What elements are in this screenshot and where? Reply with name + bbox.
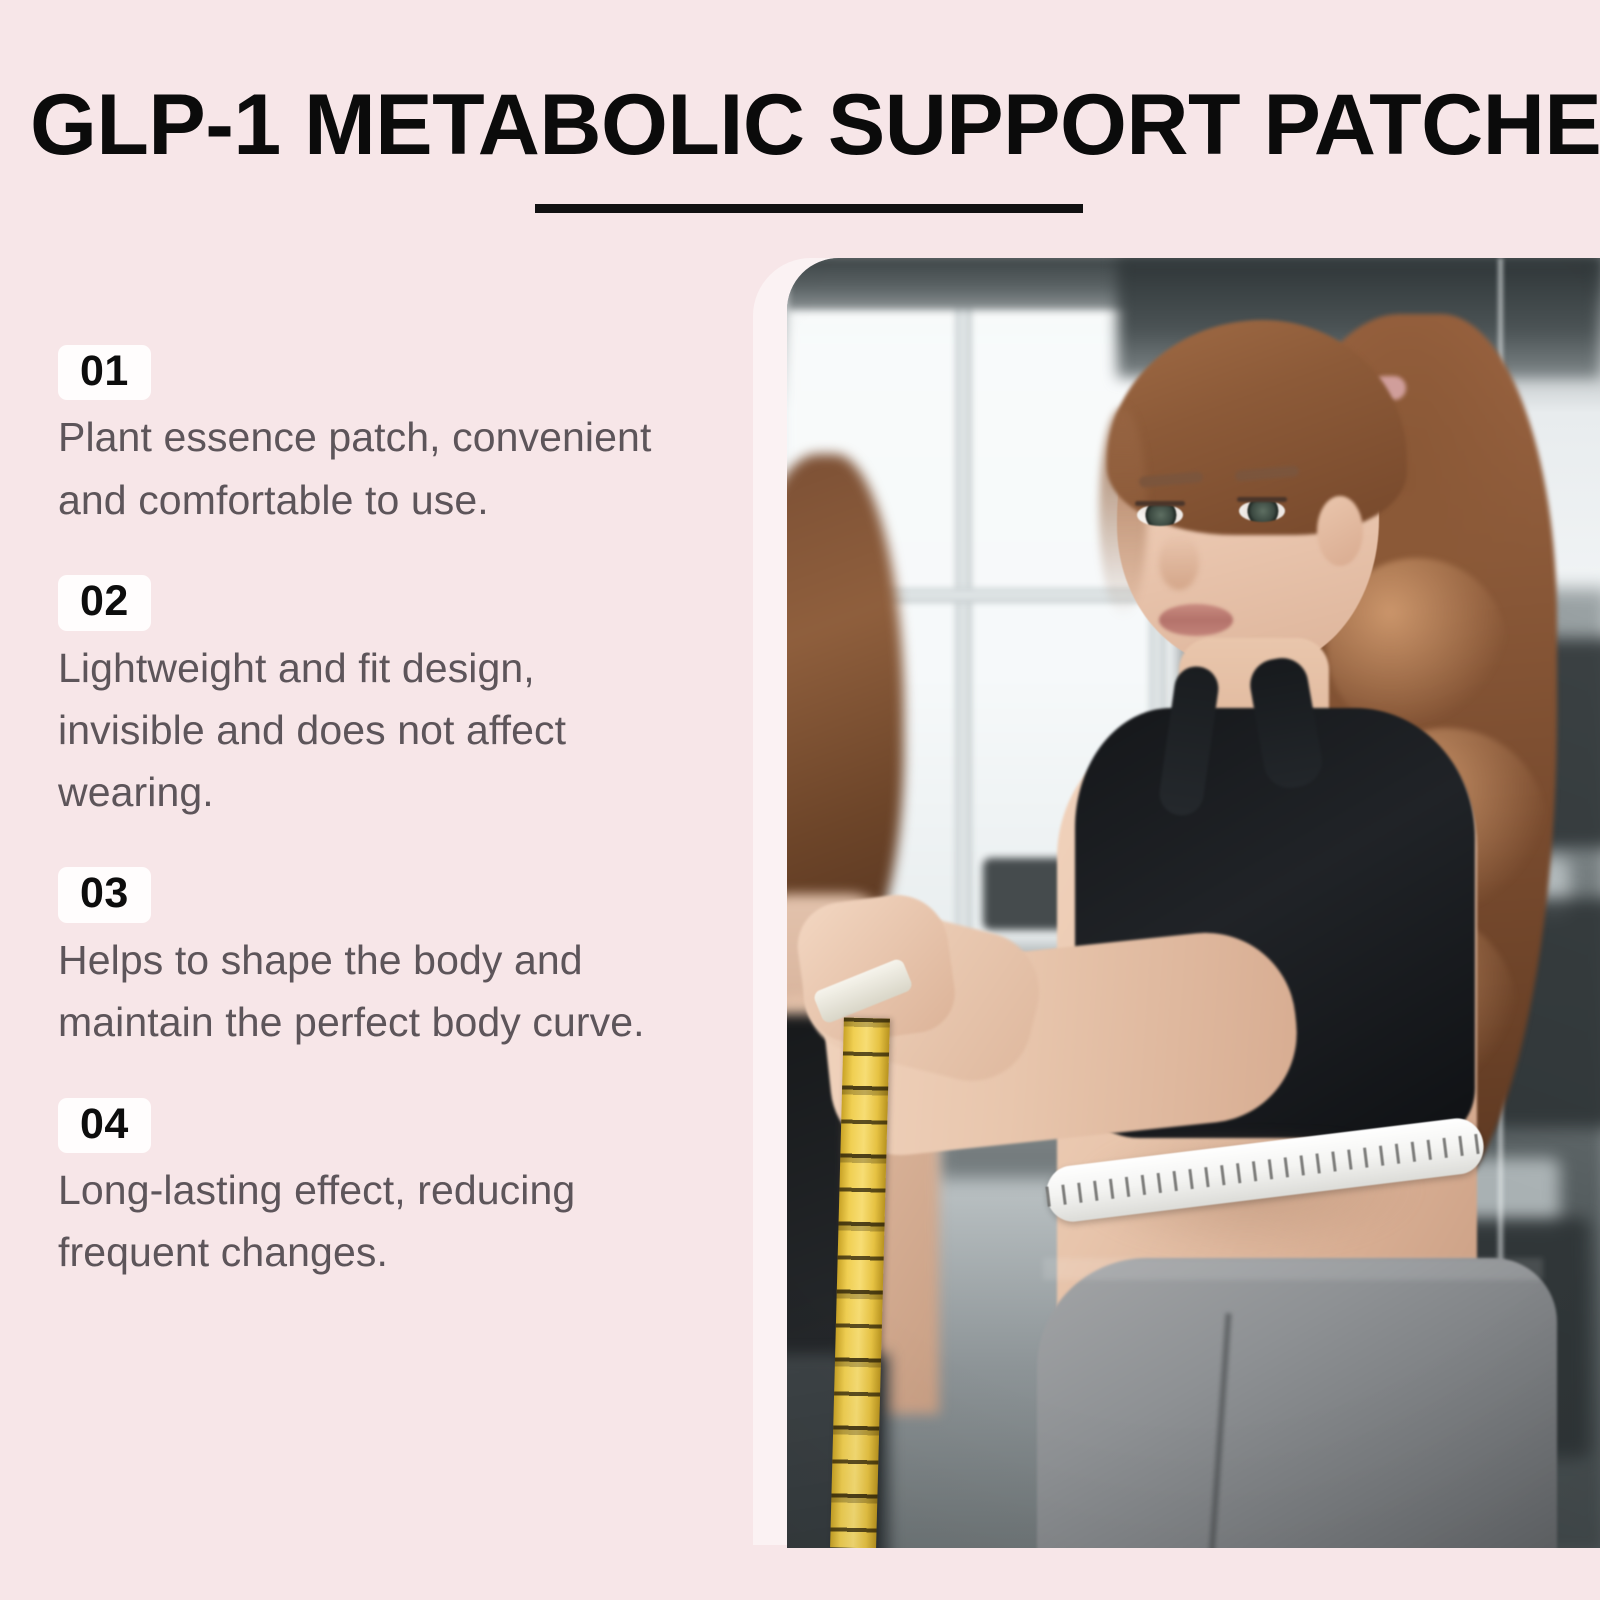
- feature-item-02: 02 Lightweight and fit design, invisible…: [58, 575, 698, 823]
- page-title: GLP-1 METABOLIC SUPPORT PATCHES: [30, 82, 1575, 168]
- feature-number-badge-04: 04: [58, 1098, 151, 1153]
- title-underline-rule: [535, 204, 1083, 213]
- model-leggings: [1037, 1258, 1557, 1548]
- poster-canvas: GLP-1 METABOLIC SUPPORT PATCHES 01 Plant…: [0, 0, 1600, 1600]
- feature-item-03: 03 Helps to shape the body and maintain …: [58, 867, 698, 1053]
- model-lash-right: [1237, 497, 1287, 502]
- feature-number-badge-01: 01: [58, 345, 151, 400]
- product-photo-frame: [787, 258, 1600, 1548]
- feature-item-01: 01 Plant essence patch, convenient and c…: [58, 345, 698, 531]
- feature-number-badge-02: 02: [58, 575, 151, 630]
- leggings-waistband: [1043, 1258, 1543, 1280]
- feature-number-badge-03: 03: [58, 867, 151, 922]
- model-lash-left: [1135, 501, 1185, 506]
- model-nose: [1159, 534, 1199, 590]
- gym-photo: [787, 258, 1600, 1548]
- feature-item-04: 04 Long-lasting effect, reducing frequen…: [58, 1098, 698, 1284]
- feature-list: 01 Plant essence patch, convenient and c…: [58, 345, 698, 1284]
- feature-text-02: Lightweight and fit design, invisible an…: [58, 637, 663, 824]
- model-ear: [1317, 496, 1363, 566]
- feature-text-04: Long-lasting effect, reducing frequent c…: [58, 1159, 683, 1284]
- model-figure: [787, 258, 1600, 1548]
- model-eye-left: [1137, 504, 1183, 526]
- model-eye-right: [1239, 500, 1285, 522]
- model-lips: [1159, 604, 1233, 636]
- feature-text-01: Plant essence patch, convenient and comf…: [58, 406, 673, 531]
- feature-text-03: Helps to shape the body and maintain the…: [58, 929, 683, 1054]
